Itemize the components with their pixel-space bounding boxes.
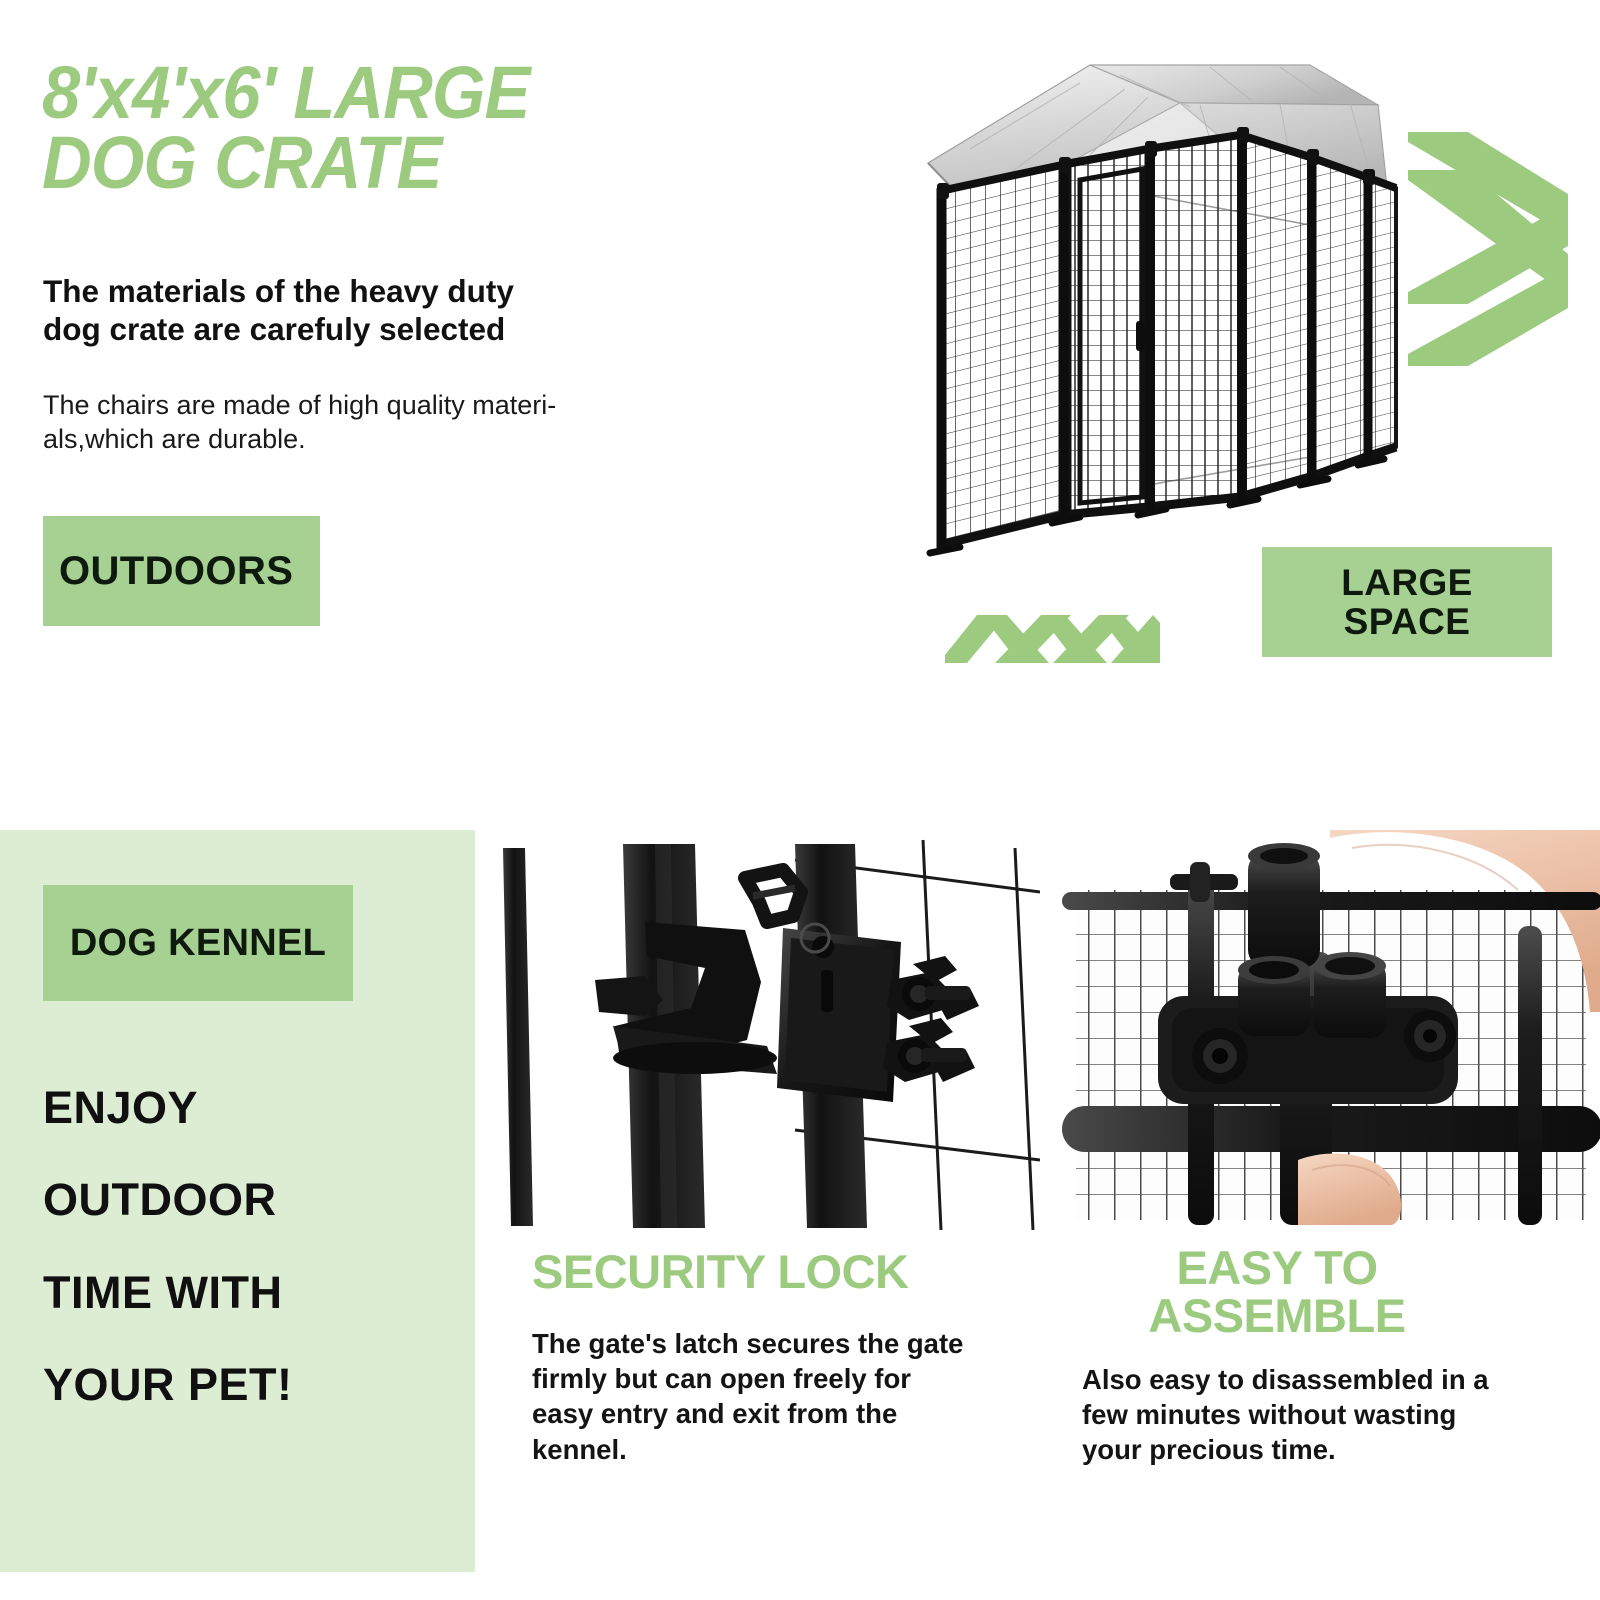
bottom-section: DOG KENNEL ENJOY OUTDOOR TIME WITH YOUR … [0, 830, 1600, 1600]
product-image-dog-kennel [880, 45, 1400, 620]
feature-title-easy-to-assemble: EASY TO ASSEMBLE [1062, 1244, 1600, 1340]
photo-pipe-connector [1062, 830, 1600, 1230]
badge-outdoors: OUTDOORS [43, 516, 320, 626]
badge-dog-kennel: DOG KENNEL [43, 885, 353, 1001]
body-copy: The chairs are made of high quality mate… [43, 388, 673, 456]
kennel-slogan: ENJOY OUTDOOR TIME WITH YOUR PET! [43, 1062, 443, 1431]
feature-title-security-lock: SECURITY LOCK [532, 1248, 1040, 1296]
photo-gate-latch [495, 830, 1040, 1230]
feature-security-lock: SECURITY LOCK The gate's latch secures t… [495, 830, 1040, 1467]
page-title: 8'x4'x6' LARGE DOG CRATE [42, 58, 749, 197]
feature-easy-to-assemble: EASY TO ASSEMBLE Also easy to disassembl… [1062, 830, 1600, 1467]
subheadline: The materials of the heavy duty dog crat… [43, 272, 653, 349]
chevron-pattern-icon [1398, 132, 1568, 382]
feature-body-security-lock: The gate's latch secures the gate firmly… [532, 1326, 1032, 1467]
top-section: 8'x4'x6' LARGE DOG CRATE The materials o… [0, 0, 1600, 800]
feature-body-easy-to-assemble: Also easy to disassembled in a few minut… [1082, 1362, 1552, 1468]
panel-dog-kennel: DOG KENNEL ENJOY OUTDOOR TIME WITH YOUR … [0, 830, 475, 1572]
